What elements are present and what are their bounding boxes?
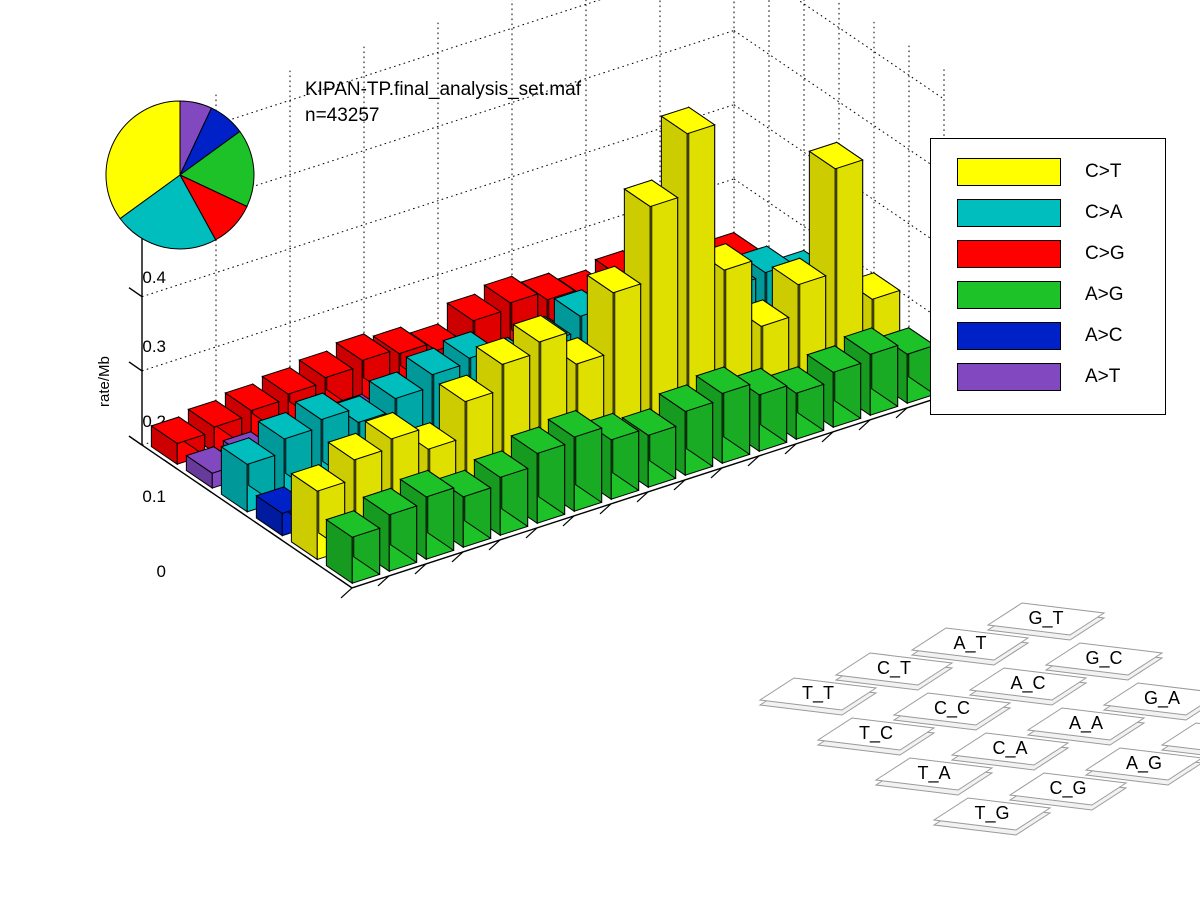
bars-group: [151, 107, 934, 583]
context-tile-grid: T_TC_TA_TG_TT_CC_CA_CG_CT_AC_AA_AG_AT_GC…: [760, 603, 1200, 835]
context-tile[interactable]: C_G: [1010, 773, 1126, 810]
legend-label: C>T: [1085, 161, 1121, 183]
legend-label: A>T: [1085, 366, 1120, 388]
context-tile-label: C_A: [992, 738, 1027, 759]
legend-swatch-ct: [957, 158, 1061, 186]
legend-item[interactable]: A>G: [957, 274, 1165, 315]
context-tile[interactable]: T_A: [876, 758, 992, 795]
context-tile-label: A_T: [953, 633, 986, 654]
context-tile[interactable]: A_G: [1086, 748, 1200, 785]
context-tile-label: A_A: [1069, 713, 1103, 734]
legend-label: A>C: [1085, 325, 1123, 347]
legend-swatch-ca: [957, 199, 1061, 227]
legend-label: C>G: [1085, 243, 1125, 265]
context-tile-label: G_A: [1144, 688, 1180, 709]
context-tile-label: A_C: [1010, 673, 1045, 694]
context-tile[interactable]: C_C: [894, 693, 1010, 730]
context-tile-label: T_T: [802, 683, 834, 704]
legend-swatch-cg: [957, 240, 1061, 268]
context-tile-label: C_T: [877, 658, 911, 679]
context-tile-label: T_A: [917, 763, 950, 784]
context-tile-label: T_C: [859, 723, 893, 744]
context-tile[interactable]: T_C: [818, 718, 934, 755]
legend-item[interactable]: A>T: [957, 356, 1165, 397]
legend-swatch-ag: [957, 281, 1061, 309]
context-tile[interactable]: A_C: [970, 668, 1086, 705]
context-tile[interactable]: A_A: [1028, 708, 1144, 745]
context-tile-label: C_C: [934, 698, 970, 719]
legend-swatch-at: [957, 363, 1061, 391]
context-tile[interactable]: A_T: [912, 628, 1028, 665]
context-tile[interactable]: T_G: [934, 798, 1050, 835]
legend-item[interactable]: C>A: [957, 192, 1165, 233]
mutation-fraction-pie: [104, 99, 256, 251]
legend-swatch-ac: [957, 322, 1061, 350]
context-tile-label: G_C: [1085, 648, 1122, 669]
legend-label: A>G: [1085, 284, 1124, 306]
context-tile-label: A_G: [1126, 753, 1162, 774]
legend-item[interactable]: C>G: [957, 233, 1165, 274]
figure-canvas: KIPAN-TP.final_analysis_set.maf n=43257 …: [0, 0, 1200, 900]
context-tile[interactable]: G_C: [1046, 643, 1162, 680]
context-tile-label: C_G: [1049, 778, 1086, 799]
context-tile-label: T_G: [974, 803, 1009, 824]
context-tile[interactable]: G_T: [988, 603, 1104, 640]
context-tile[interactable]: C_T: [836, 653, 952, 690]
context-tile[interactable]: T_T: [760, 678, 876, 715]
legend-item[interactable]: A>C: [957, 315, 1165, 356]
context-tile-label: G_T: [1028, 608, 1063, 629]
legend-box: C>T C>A C>G A>G A>C A>T: [930, 138, 1166, 415]
context-tile[interactable]: C_A: [952, 733, 1068, 770]
legend-label: C>A: [1085, 202, 1123, 224]
legend-item[interactable]: C>T: [957, 151, 1165, 192]
